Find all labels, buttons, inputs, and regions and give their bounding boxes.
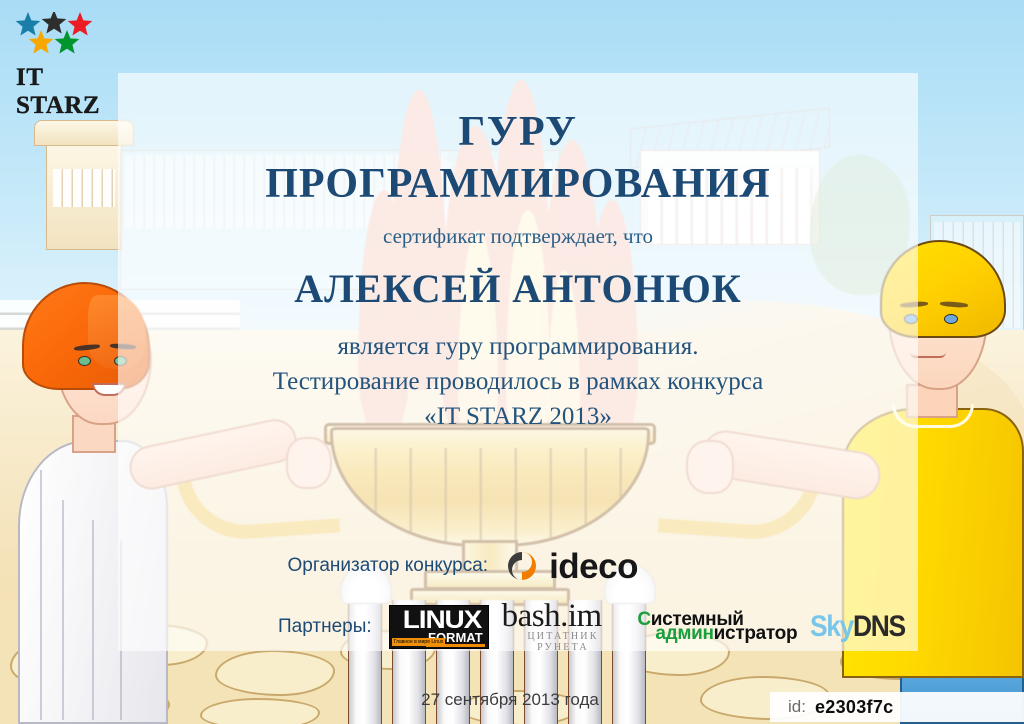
id-badge: id: e2303f7c: [770, 692, 1024, 722]
sysadmin-line2-green: админ: [655, 623, 713, 644]
partners-label: Партнеры:: [278, 616, 372, 638]
linux-format-tagline: Главное в мире Linux: [392, 638, 446, 646]
certificate-body-line3: «IT STARZ 2013»: [118, 403, 918, 431]
ideco-logo: ideco: [504, 548, 638, 584]
organizer-row: Организатор конкурса: ideco: [118, 548, 638, 584]
partner-logo-skydns: SkyDNS: [810, 612, 905, 642]
ideco-wordmark: ideco: [549, 549, 638, 584]
sysadmin-line1-green: С: [637, 609, 650, 630]
star-black-icon: [42, 12, 67, 34]
woman-eye: [78, 356, 91, 366]
ideco-swirl-icon: [504, 548, 540, 584]
sysadmin-line2: администратор: [637, 626, 797, 642]
skydns-part2: DNS: [853, 610, 905, 643]
certificate-body-line1: является гуру программирования.: [118, 333, 918, 361]
skydns-part1: Sky: [810, 610, 853, 643]
partner-logo-linux-format: LINUX FORMAT Главное в мире Linux: [389, 605, 489, 649]
certificate-subtitle: сертификат подтверждает, что: [118, 224, 918, 249]
star-green-icon: [55, 30, 80, 54]
cobble-stone: [200, 698, 320, 724]
partners-row: Партнеры: LINUX FORMAT Главное в мире Li…: [118, 600, 918, 653]
man-eye: [944, 314, 958, 324]
recipient-name: АЛЕКСЕЙ АНТОНЮК: [118, 265, 918, 312]
id-label: id:: [788, 697, 806, 717]
certificate-title-line1: ГУРУ: [118, 108, 918, 156]
partner-logo-bash-im: bash.im ЦИТАТНИК РУНЕТА: [502, 600, 625, 653]
logo-text: IT STARZ: [16, 64, 120, 120]
man-hand: [686, 440, 734, 494]
man-eye: [904, 314, 918, 324]
bash-im-tagline: ЦИТАТНИК РУНЕТА: [502, 631, 625, 653]
organizer-label: Организатор конкурса:: [287, 555, 488, 577]
partner-logo-sistemny-administrator: Системный администратор: [637, 612, 797, 642]
sysadmin-line2-rest: истратор: [714, 623, 798, 644]
id-value: e2303f7c: [815, 697, 893, 718]
stars-icon: [14, 12, 120, 58]
certificate-body-line2: Тестирование проводилось в рамках конкур…: [118, 368, 918, 396]
cobble-stone: [215, 650, 335, 696]
certificate-date: 27 сентября 2013 года: [330, 690, 690, 710]
star-orange-icon: [29, 30, 54, 54]
star-red-icon: [68, 12, 93, 36]
certificate-title-line2: ПРОГРАММИРОВАНИЯ: [118, 160, 918, 208]
logo-stars-group: [14, 12, 120, 56]
star-blue-icon: [16, 12, 41, 36]
certificate-canvas: IT STARZ ГУРУ ПРОГРАММИРОВАНИЯ сертифика…: [0, 0, 1024, 724]
building-left-tower: [46, 140, 122, 250]
woman-hand: [286, 437, 332, 489]
linux-format-line1: LINUX: [389, 607, 489, 633]
it-starz-logo: IT STARZ: [14, 12, 120, 96]
bash-im-wordmark: bash.im: [502, 600, 625, 632]
